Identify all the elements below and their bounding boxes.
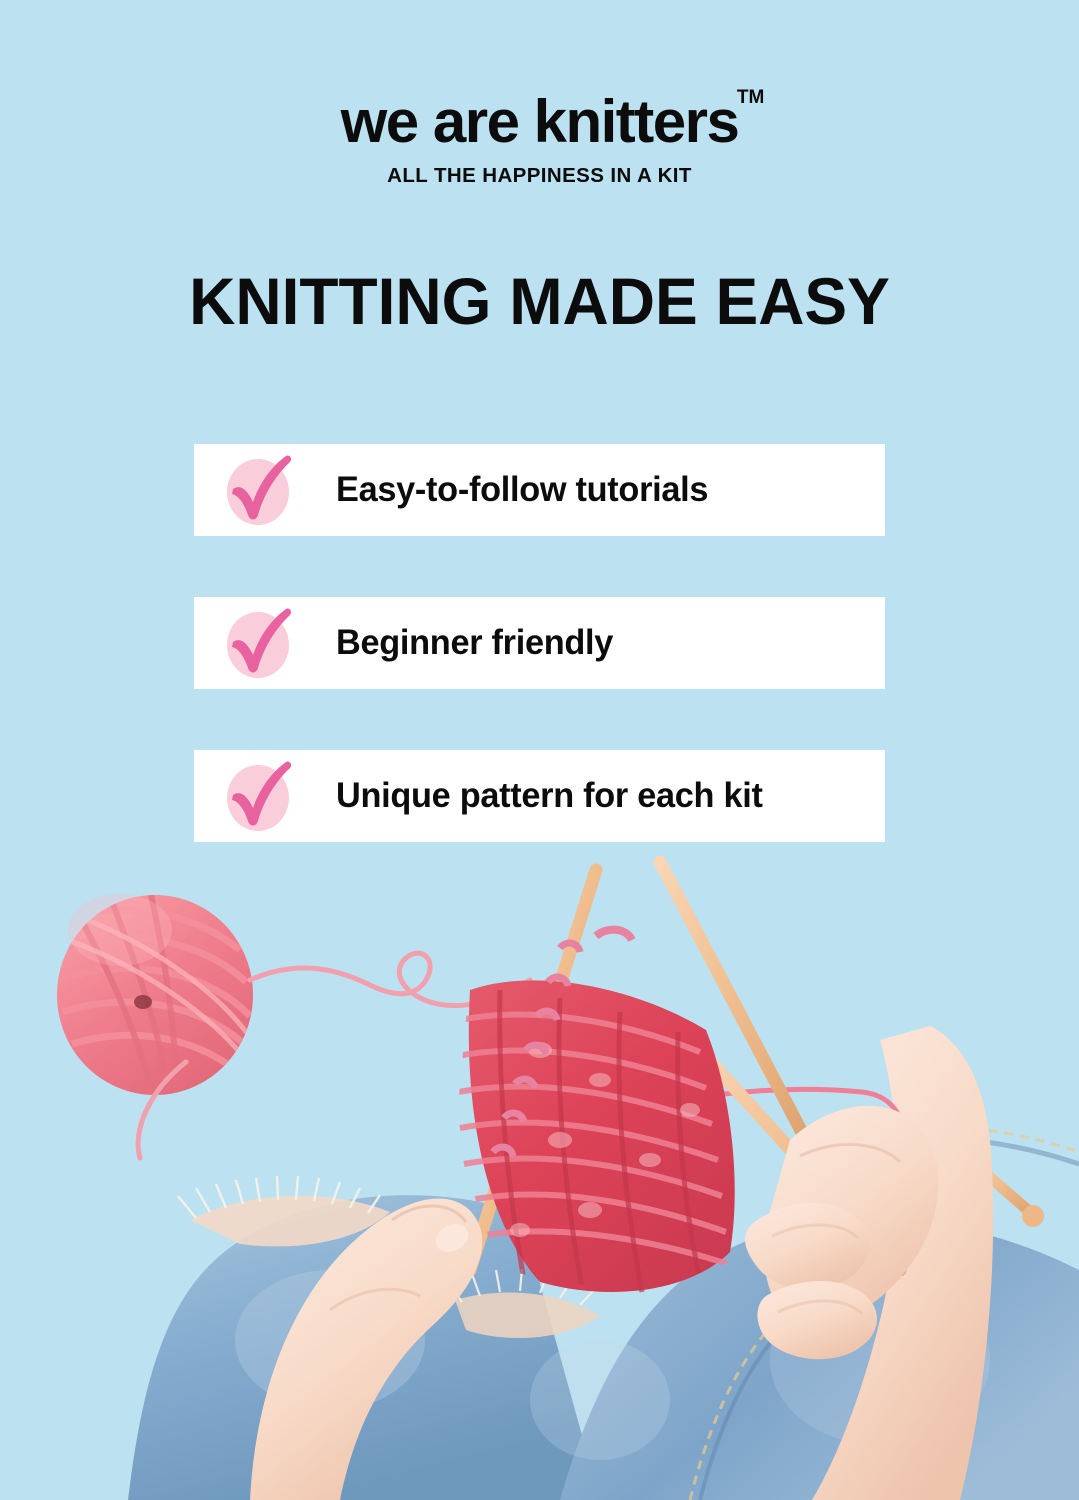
yarn-ball (56, 890, 256, 1095)
check-icon (220, 757, 298, 835)
page-title: KNITTING MADE EASY (16, 268, 1063, 334)
check-icon (220, 604, 298, 682)
check-icon (220, 451, 298, 529)
feature-card-list: Easy-to-follow tutorials Beginner friend… (194, 444, 885, 903)
feature-label: Unique pattern for each kit (336, 776, 763, 816)
feature-label: Easy-to-follow tutorials (336, 470, 708, 510)
brand-logo-block: we are knitters TM ALL THE HAPPINESS IN … (0, 92, 1079, 188)
feature-label: Beginner friendly (336, 623, 613, 663)
hero-photo (0, 840, 1079, 1500)
feature-card: Beginner friendly (194, 597, 885, 689)
brand-name-text: we are knitters (341, 88, 739, 155)
trademark-symbol: TM (737, 88, 764, 107)
feature-card: Unique pattern for each kit (194, 750, 885, 842)
brand-tagline: ALL THE HAPPINESS IN A KIT (0, 164, 1079, 188)
feature-card: Easy-to-follow tutorials (194, 444, 885, 536)
brand-name: we are knitters TM (341, 92, 739, 152)
